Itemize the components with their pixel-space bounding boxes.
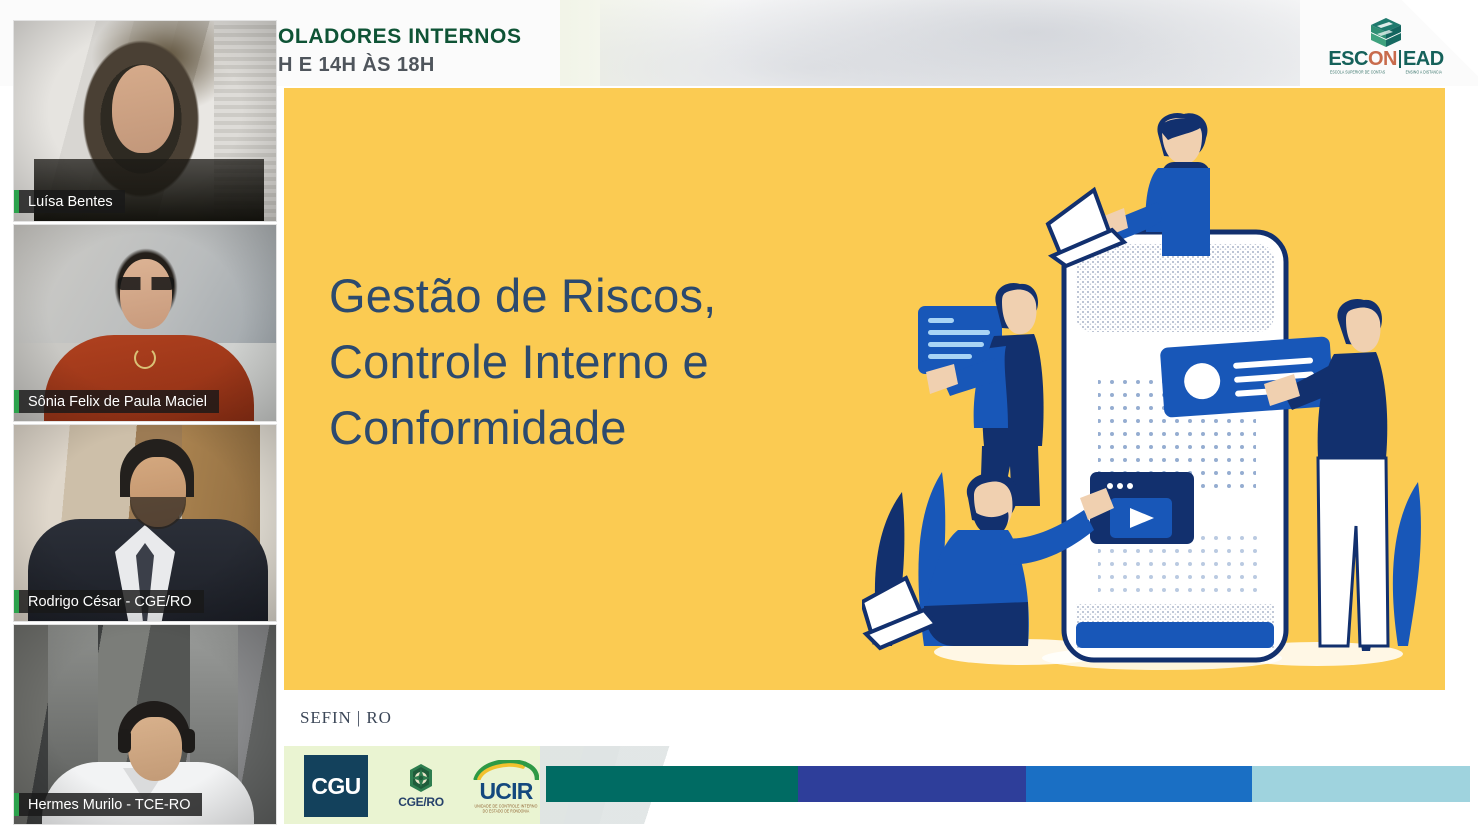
participant-name: Luísa Bentes bbox=[28, 194, 113, 210]
escon-subtitle-row: ESCOLA SUPERIOR DE CONTAS ENSINO A DISTA… bbox=[1330, 70, 1442, 74]
escon-ead-logo: ESC ON EAD ESCOLA SUPERIOR DE CONTAS ENS… bbox=[1330, 17, 1442, 85]
headphone-left-icon bbox=[118, 729, 131, 753]
participant-tile[interactable]: Hermes Murilo - TCE-RO bbox=[13, 624, 277, 825]
color-segment-light-blue bbox=[1252, 766, 1470, 802]
color-segment-indigo bbox=[798, 766, 1026, 802]
participant-tile[interactable]: Rodrigo César - CGE/RO bbox=[13, 424, 277, 622]
ucir-arc-icon bbox=[473, 760, 539, 780]
brand-color-bar bbox=[546, 766, 1470, 802]
participant-video-strip: Luísa Bentes Sônia Felix de Paula Maciel bbox=[13, 20, 277, 825]
mic-active-indicator bbox=[14, 390, 19, 413]
ucir-logo: UCIR UNIDADE DE CONTROLE INTERNO DO ESTA… bbox=[466, 754, 546, 818]
participant-tile[interactable]: Sônia Felix de Paula Maciel bbox=[13, 224, 277, 422]
escon-ead-text: EAD bbox=[1403, 50, 1444, 69]
stacked-books-icon bbox=[1369, 17, 1403, 49]
participant-name-plate: Sônia Felix de Paula Maciel bbox=[14, 390, 219, 413]
escon-esc-text: ESC bbox=[1328, 50, 1368, 69]
face-shape bbox=[120, 259, 172, 329]
face-shape bbox=[128, 717, 182, 781]
mic-active-indicator bbox=[14, 793, 19, 816]
slide-body-yellow: Gestão de Riscos, Controle Interno e Con… bbox=[284, 88, 1445, 690]
escon-wordmark: ESC ON EAD bbox=[1328, 50, 1443, 69]
escon-divider bbox=[1399, 50, 1401, 68]
escon-on-text: ON bbox=[1368, 50, 1397, 69]
glasses-shape bbox=[118, 277, 174, 290]
mic-active-indicator bbox=[14, 190, 19, 213]
participant-tile[interactable]: Luísa Bentes bbox=[13, 20, 277, 222]
participant-name: Rodrigo César - CGE/RO bbox=[28, 594, 192, 610]
participant-name: Hermes Murilo - TCE-RO bbox=[28, 797, 190, 813]
screen-share-meeting-view: OLADORES INTERNOS H E 14H ÀS 18H ESC ON bbox=[0, 0, 1478, 830]
elearning-illustration bbox=[862, 106, 1445, 672]
header-title-line2: H E 14H ÀS 18H bbox=[278, 52, 708, 78]
necklace-shape bbox=[134, 347, 156, 369]
color-segment-blue bbox=[1026, 766, 1252, 802]
cge-ro-logo: CGE/RO bbox=[390, 754, 452, 818]
cgu-logo: CGU bbox=[304, 755, 368, 817]
sefin-ro-label: SEFIN | RO bbox=[300, 708, 392, 728]
cge-compass-icon bbox=[406, 763, 436, 793]
face-shape bbox=[112, 65, 174, 153]
cgu-logo-text: CGU bbox=[311, 773, 360, 800]
ucir-subtitle-2: DO ESTADO DE RONDONIA bbox=[483, 808, 530, 813]
color-segment-teal bbox=[546, 766, 798, 802]
participant-name-plate: Luísa Bentes bbox=[14, 190, 125, 213]
participant-name-plate: Rodrigo César - CGE/RO bbox=[14, 590, 204, 613]
slide-title: Gestão de Riscos, Controle Interno e Con… bbox=[329, 263, 849, 461]
cge-ro-logo-text: CGE/RO bbox=[398, 795, 444, 809]
mic-active-indicator bbox=[14, 590, 19, 613]
header-title-line1: OLADORES INTERNOS bbox=[278, 24, 708, 50]
escon-subtitle-right: ENSINO A DISTANCIA bbox=[1406, 69, 1442, 74]
slide-footer-strip bbox=[284, 690, 1478, 748]
headphone-right-icon bbox=[182, 729, 195, 753]
participant-name: Sônia Felix de Paula Maciel bbox=[28, 394, 207, 410]
escon-subtitle-left: ESCOLA SUPERIOR DE CONTAS bbox=[1330, 69, 1385, 74]
ucir-logo-text: UCIR bbox=[479, 780, 532, 802]
participant-name-plate: Hermes Murilo - TCE-RO bbox=[14, 793, 202, 816]
slide-header-title-block: OLADORES INTERNOS H E 14H ÀS 18H bbox=[278, 24, 708, 78]
